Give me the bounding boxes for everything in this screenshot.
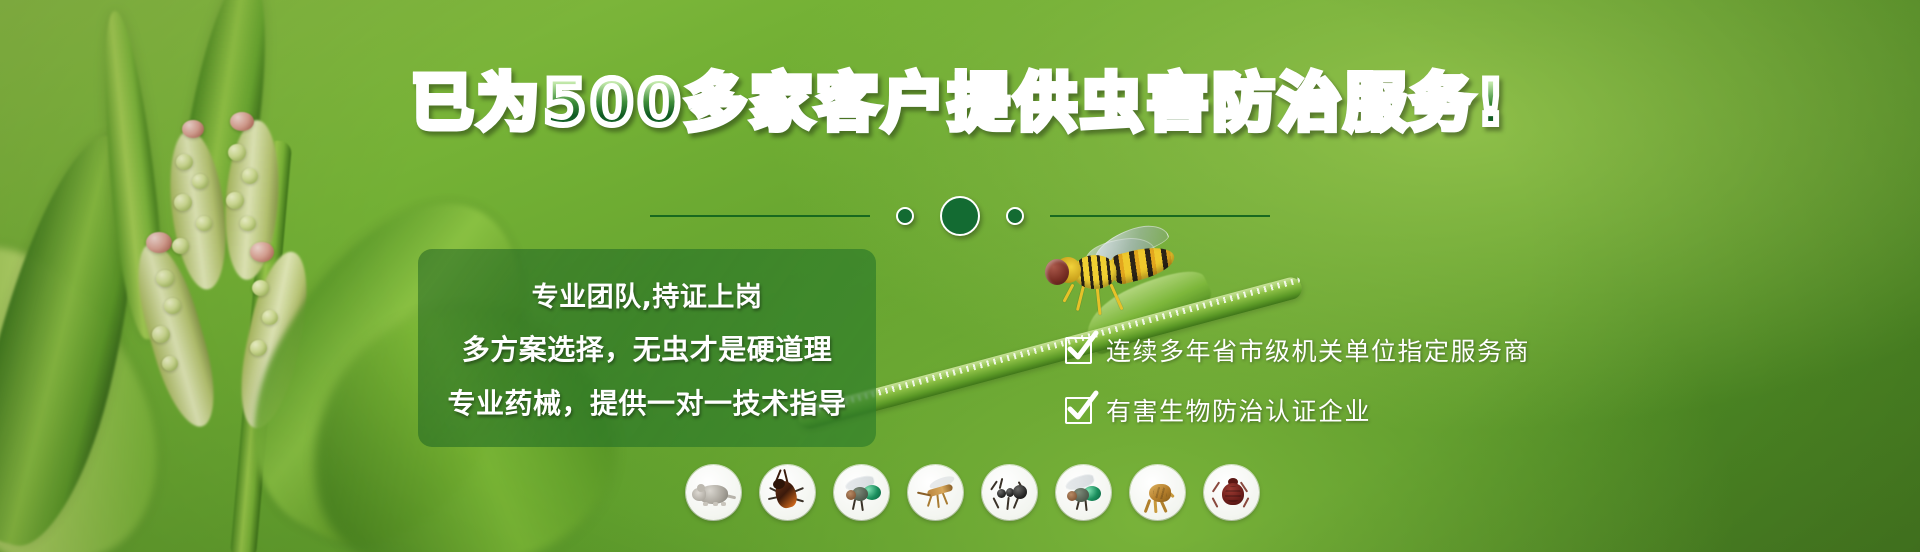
blowfly-icon[interactable] [1056,465,1111,520]
divider-dot-small-right [1006,207,1024,225]
flea-glyph [1135,473,1181,513]
ant-icon[interactable] [982,465,1037,520]
credential-text: 连续多年省市级机关单位指定服务商 [1106,332,1530,368]
divider-dot-large [940,196,980,236]
cockroach-glyph [765,473,811,513]
cockroach-icon[interactable] [760,465,815,520]
fly-icon[interactable] [834,465,889,520]
credentials-checklist: 连续多年省市级机关单位指定服务商 有害生物防治认证企业 [1065,332,1530,428]
mosquito-icon[interactable] [908,465,963,520]
flea-icon[interactable] [1130,465,1185,520]
selling-point-2: 多方案选择，无虫才是硬道理 [462,328,833,368]
selling-points-panel: 专业团队,持证上岗 多方案选择，无虫才是硬道理 专业药械，提供一对一技术指导 [418,249,876,447]
rat-glyph [691,473,737,513]
bedbug-glyph [1209,473,1255,513]
promo-banner: 已为500多家客户提供虫害防治服务! 专业团队,持证上岗 多方案选择，无虫才是硬… [0,0,1920,552]
blowfly-glyph [1061,473,1107,513]
mosquito-glyph [913,473,959,513]
selling-point-3: 专业药械，提供一对一技术指导 [447,382,846,422]
rat-icon[interactable] [686,465,741,520]
headline-container: 已为500多家客户提供虫害防治服务! [0,72,1920,134]
fly-glyph [839,473,885,513]
page-title: 已为500多家客户提供虫害防治服务! [411,72,1509,134]
divider-decoration [0,196,1920,236]
divider-dot-small-left [896,207,914,225]
divider-line-left [650,215,870,217]
credential-text: 有害生物防治认证企业 [1106,392,1371,428]
bedbug-icon[interactable] [1204,465,1259,520]
pest-icon-row [686,465,1259,520]
divider-line-right [1050,215,1270,217]
list-item: 连续多年省市级机关单位指定服务商 [1065,332,1530,368]
ant-glyph [987,473,1033,513]
selling-point-1: 专业团队,持证上岗 [532,275,763,314]
list-item: 有害生物防治认证企业 [1065,392,1530,428]
checkbox-checked-icon [1065,337,1092,364]
checkbox-checked-icon [1065,397,1092,424]
